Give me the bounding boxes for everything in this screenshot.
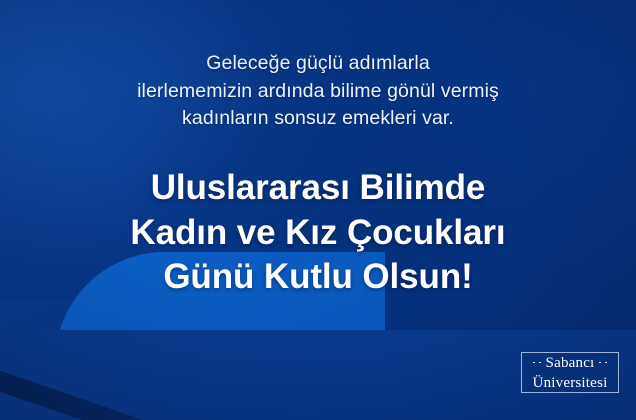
headline-line-1: Uluslararası Bilimde (28, 166, 608, 210)
headline-line-3: Günü Kutlu Olsun! (28, 255, 608, 299)
headline-line-2: Kadın ve Kız Çocukları (28, 211, 608, 255)
content-area: Geleceğe güçlü adımlarla ilerlememizin a… (0, 0, 636, 420)
poster-canvas: Geleceğe güçlü adımlarla ilerlememizin a… (0, 0, 636, 420)
subtitle-line-2: ilerlememizin ardında bilime gönül vermi… (58, 78, 578, 106)
subtitle-text: Geleceğe güçlü adımlarla ilerlememizin a… (58, 50, 578, 133)
subtitle-line-1: Geleceğe güçlü adımlarla (58, 50, 578, 78)
subtitle-line-3: kadınların sonsuz emekleri var. (58, 105, 578, 133)
headline-text: Uluslararası Bilimde Kadın ve Kız Çocukl… (28, 166, 608, 299)
